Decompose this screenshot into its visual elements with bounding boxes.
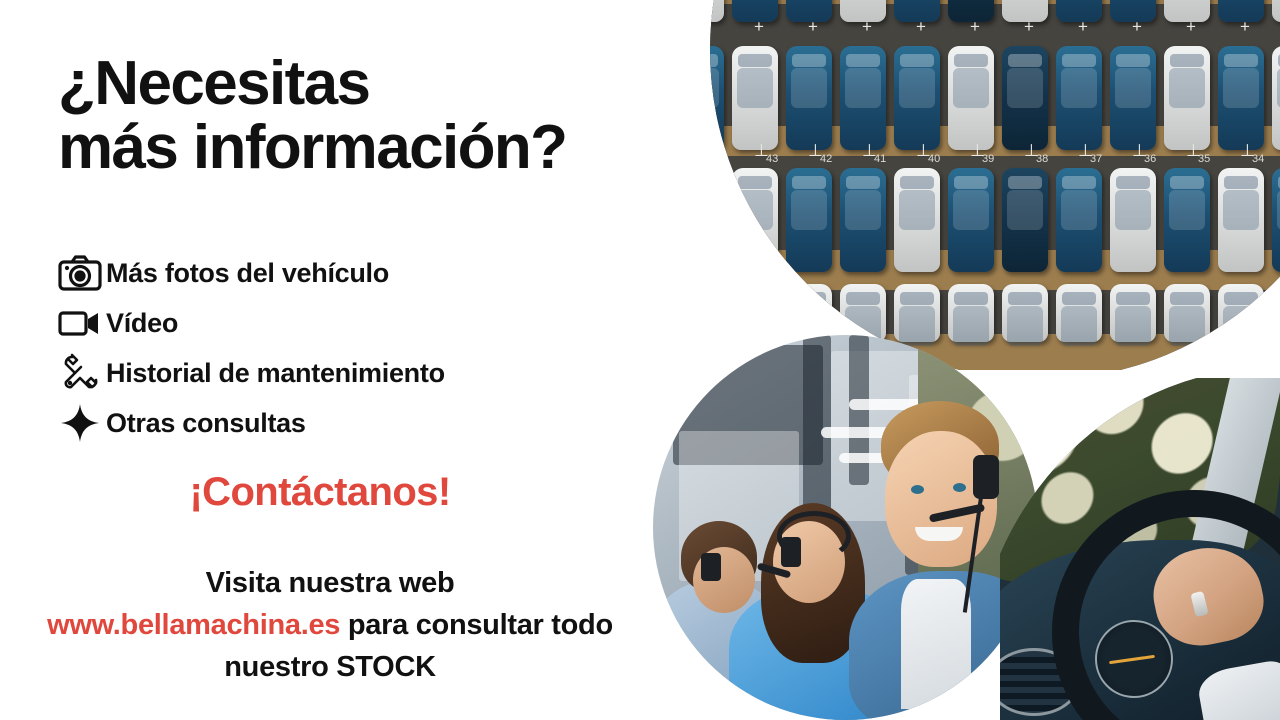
car-windshield xyxy=(954,292,988,305)
car-roof xyxy=(791,190,827,230)
parked-car xyxy=(786,168,832,272)
car-roof xyxy=(1115,190,1151,230)
parking-mark: + xyxy=(970,18,980,35)
car-roof xyxy=(953,68,989,108)
car-roof xyxy=(1007,68,1043,108)
parking-mark: + xyxy=(646,18,656,35)
car-windshield xyxy=(1116,176,1150,189)
page-title: ¿Necesitas más información? xyxy=(58,52,698,180)
parked-car xyxy=(1110,284,1156,342)
car-windshield xyxy=(1062,292,1096,305)
headline-line-2: más información? xyxy=(58,116,698,180)
eye xyxy=(953,483,966,492)
footer-line-3: nuestro STOCK xyxy=(0,646,660,688)
car-windshield xyxy=(738,176,772,189)
car-roof xyxy=(1169,68,1205,108)
parked-car xyxy=(894,168,940,272)
car-windshield xyxy=(954,54,988,67)
parked-car xyxy=(894,46,940,150)
car-roof xyxy=(1169,306,1205,346)
parking-mark: + xyxy=(1186,18,1196,35)
parked-car xyxy=(1164,46,1210,150)
car-roof xyxy=(737,190,773,230)
parking-mark: + xyxy=(754,18,764,35)
parked-car xyxy=(894,284,940,342)
parked-car xyxy=(1056,46,1102,150)
list-item: Historial de mantenimiento xyxy=(54,348,654,398)
car-windshield xyxy=(1008,54,1042,67)
parking-mark: + xyxy=(1240,18,1250,35)
parking-bay-number: 34 xyxy=(1252,154,1264,165)
parked-car xyxy=(1002,168,1048,272)
car-windshield xyxy=(1224,176,1258,189)
parking-mark: + xyxy=(1132,18,1142,35)
parked-car xyxy=(840,168,886,272)
car-windshield xyxy=(792,54,826,67)
footer-line-2: www.bellamachina.es para consultar todo xyxy=(0,604,660,646)
list-item: Más fotos del vehículo xyxy=(54,248,654,298)
parking-mark: + xyxy=(916,18,926,35)
headset-icon xyxy=(973,455,999,499)
parked-car xyxy=(1002,284,1048,342)
car-windshield xyxy=(1116,292,1150,305)
parked-car xyxy=(786,46,832,150)
car-roof xyxy=(953,190,989,230)
parked-car xyxy=(840,46,886,150)
car-row xyxy=(620,162,1280,280)
car-windshield xyxy=(1116,54,1150,67)
car-windshield xyxy=(684,292,718,305)
parking-bay-number: 38 xyxy=(1036,154,1048,165)
parking-mark: + xyxy=(1078,18,1088,35)
headset-icon xyxy=(701,553,721,581)
car-windshield xyxy=(846,54,880,67)
driving-photo xyxy=(1000,378,1280,720)
parking-bay-number: 41 xyxy=(874,154,886,165)
car-roof xyxy=(1007,190,1043,230)
parking-bay-number: 35 xyxy=(1198,154,1210,165)
parking-mark: + xyxy=(700,18,710,35)
car-windshield xyxy=(846,292,880,305)
parked-car xyxy=(1110,168,1156,272)
parking-bay-number: 44 xyxy=(712,154,724,165)
website-url[interactable]: www.bellamachina.es xyxy=(47,609,340,641)
car-roof xyxy=(899,68,935,108)
parked-car xyxy=(1272,0,1280,22)
parked-car xyxy=(678,168,724,272)
parked-car xyxy=(840,284,886,342)
footer-line-1: Visita nuestra web xyxy=(0,562,660,604)
car-windshield xyxy=(954,176,988,189)
parking-bay-number: 42 xyxy=(820,154,832,165)
list-item: Vídeo xyxy=(54,298,654,348)
parked-car xyxy=(1056,284,1102,342)
car-windshield xyxy=(792,292,826,305)
car-windshield xyxy=(1170,176,1204,189)
parked-car xyxy=(678,284,724,342)
car-windshield xyxy=(1008,176,1042,189)
car-roof xyxy=(683,190,719,230)
car-windshield xyxy=(738,292,772,305)
headline-line-1: ¿Necesitas xyxy=(58,49,369,118)
car-roof xyxy=(1061,68,1097,108)
car-roof xyxy=(1115,306,1151,346)
car-windshield xyxy=(1008,292,1042,305)
sparkle-icon xyxy=(54,401,106,445)
car-roof xyxy=(737,68,773,108)
car-windshield xyxy=(1224,292,1258,305)
car-windshield xyxy=(792,176,826,189)
car-windshield xyxy=(900,54,934,67)
car-row xyxy=(620,40,1280,158)
list-item-label: Vídeo xyxy=(106,308,178,339)
parking-mark: + xyxy=(862,18,872,35)
parked-car xyxy=(1218,284,1264,342)
list-item-label: Otras consultas xyxy=(106,408,306,439)
car-roof xyxy=(1061,190,1097,230)
car-roof xyxy=(845,190,881,230)
car-roof xyxy=(845,68,881,108)
parked-car xyxy=(624,0,670,22)
list-item-label: Historial de mantenimiento xyxy=(106,358,445,389)
footer-line-2-rest: para consultar todo xyxy=(340,609,613,641)
parking-bay-number: 40 xyxy=(928,154,940,165)
promo-banner: ¿Necesitas más información? Más fotos de… xyxy=(0,0,1280,720)
parking-bay-number: 39 xyxy=(982,154,994,165)
car-roof xyxy=(629,190,665,230)
video-camera-icon xyxy=(54,301,106,345)
parked-car xyxy=(1002,46,1048,150)
parked-car xyxy=(1272,168,1280,272)
call-center-photo xyxy=(653,335,1038,720)
parked-car xyxy=(1164,284,1210,342)
eye xyxy=(911,485,924,494)
parked-car xyxy=(1272,46,1280,150)
website-footer: Visita nuestra web www.bellamachina.es p… xyxy=(0,562,660,688)
parked-car xyxy=(1218,46,1264,150)
parked-car xyxy=(678,0,724,22)
car-roof xyxy=(791,68,827,108)
car-roof xyxy=(1223,306,1259,346)
list-item-label: Más fotos del vehículo xyxy=(106,258,389,289)
car-windshield xyxy=(1062,54,1096,67)
contact-cta[interactable]: ¡Contáctanos! xyxy=(0,470,640,515)
car-roof xyxy=(1061,306,1097,346)
camera-icon xyxy=(54,251,106,295)
parking-bay-number: 36 xyxy=(1144,154,1156,165)
parked-car xyxy=(732,168,778,272)
parked-car xyxy=(786,284,832,342)
parked-car xyxy=(1218,168,1264,272)
car-roof xyxy=(1169,190,1205,230)
car-windshield xyxy=(1224,54,1258,67)
parked-car xyxy=(1272,284,1280,342)
parking-bay-number: 43 xyxy=(766,154,778,165)
parked-car xyxy=(1056,168,1102,272)
parked-car xyxy=(948,46,994,150)
parking-bay-number: 37 xyxy=(1090,154,1102,165)
parking-mark: + xyxy=(808,18,818,35)
car-windshield xyxy=(1062,176,1096,189)
parking-mark: + xyxy=(1024,18,1034,35)
headset-icon xyxy=(781,537,801,567)
parked-car xyxy=(732,284,778,342)
car-lot-photo: +⊥45+⊥44+⊥43+⊥42+⊥41+⊥40+⊥39+⊥38+⊥37+⊥36… xyxy=(620,0,1280,370)
list-item: Otras consultas xyxy=(54,398,654,448)
parked-car xyxy=(1164,168,1210,272)
car-windshield xyxy=(846,176,880,189)
car-windshield xyxy=(900,176,934,189)
feature-list: Más fotos del vehículo Vídeo xyxy=(54,248,654,448)
car-windshield xyxy=(1170,292,1204,305)
parked-car xyxy=(1110,46,1156,150)
car-roof xyxy=(1223,68,1259,108)
wrench-tools-icon xyxy=(54,351,106,395)
parking-mark: ⊥ xyxy=(700,142,715,159)
car-windshield xyxy=(738,54,772,67)
car-roof xyxy=(1115,68,1151,108)
car-windshield xyxy=(1170,54,1204,67)
agent-front-shirt xyxy=(901,579,971,709)
car-row xyxy=(620,0,1280,30)
car-roof xyxy=(899,190,935,230)
car-roof xyxy=(1223,190,1259,230)
parked-car xyxy=(732,46,778,150)
smile xyxy=(915,527,963,541)
parked-car xyxy=(948,284,994,342)
car-windshield xyxy=(900,292,934,305)
parked-car xyxy=(948,168,994,272)
